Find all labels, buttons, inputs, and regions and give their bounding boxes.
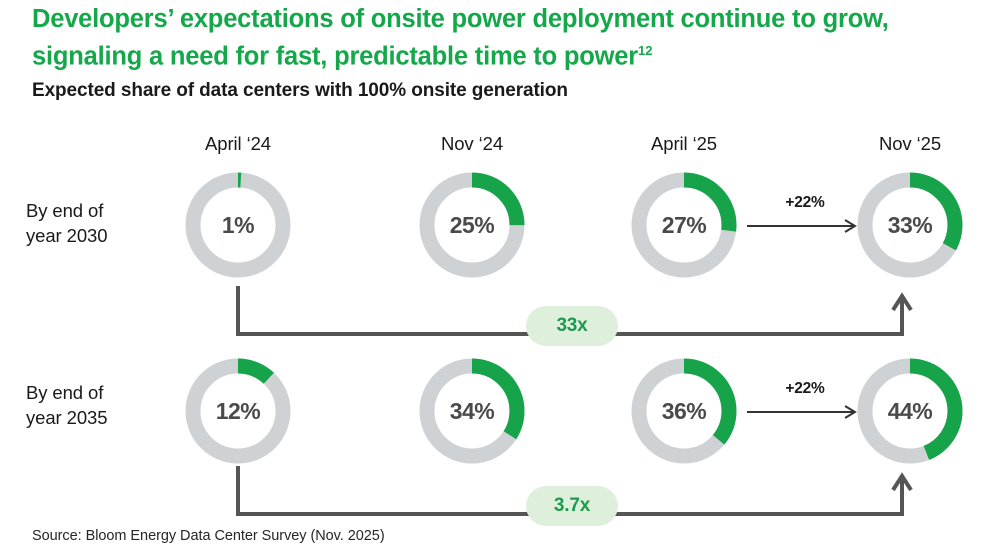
donut-2030-april-24: 1%	[185, 172, 291, 278]
donut-value-2035-nov-24: 34%	[419, 358, 525, 464]
donut-value-2035-nov-25: 44%	[857, 358, 963, 464]
donut-2035-april-25: 36%	[631, 358, 737, 464]
infographic-canvas: Developers’ expectations of onsite power…	[0, 0, 1000, 553]
growth-badge-2030: 33x	[526, 306, 618, 346]
row-label-2035-line1: By end of	[26, 380, 176, 405]
donut-2035-nov-25: 44%	[857, 358, 963, 464]
donut-value-2035-april-24: 12%	[185, 358, 291, 464]
growth-connector-2035: 3.7x	[225, 466, 915, 528]
headline-text: Developers’ expectations of onsite power…	[32, 5, 889, 71]
delta-2030: +22%	[745, 194, 865, 240]
subtitle: Expected share of data centers with 100%…	[32, 80, 952, 102]
donut-value-2030-nov-24: 25%	[419, 172, 525, 278]
donut-value-2030-april-24: 1%	[185, 172, 291, 278]
donut-value-2035-april-25: 36%	[631, 358, 737, 464]
donut-2030-nov-25: 33%	[857, 172, 963, 278]
arrow-right-icon	[745, 216, 865, 236]
column-header-nov-24: Nov ‘24	[392, 133, 552, 155]
arrow-right-icon	[745, 402, 865, 422]
source-note: Source: Bloom Energy Data Center Survey …	[32, 528, 385, 544]
donut-2030-april-25: 27%	[631, 172, 737, 278]
donut-value-2030-april-25: 27%	[631, 172, 737, 278]
row-label-2030-line2: year 2030	[26, 223, 176, 248]
donut-2035-nov-24: 34%	[419, 358, 525, 464]
row-label-2030-line1: By end of	[26, 198, 176, 223]
delta-label-2035: +22%	[745, 380, 865, 398]
donut-value-2030-nov-25: 33%	[857, 172, 963, 278]
column-header-nov-25: Nov ‘25	[830, 133, 990, 155]
column-header-april-25: April ‘25	[604, 133, 764, 155]
headline-footnote-marker: 12	[638, 43, 652, 58]
growth-connector-2030: 33x	[225, 286, 915, 348]
row-label-2035-line2: year 2035	[26, 405, 176, 430]
donut-2035-april-24: 12%	[185, 358, 291, 464]
column-header-april-24: April ‘24	[158, 133, 318, 155]
page-title: Developers’ expectations of onsite power…	[32, 4, 952, 73]
row-label-2030: By end of year 2030	[26, 198, 176, 248]
row-label-2035: By end of year 2035	[26, 380, 176, 430]
delta-2035: +22%	[745, 380, 865, 426]
growth-badge-2035: 3.7x	[526, 486, 618, 526]
delta-label-2030: +22%	[745, 194, 865, 212]
donut-2030-nov-24: 25%	[419, 172, 525, 278]
